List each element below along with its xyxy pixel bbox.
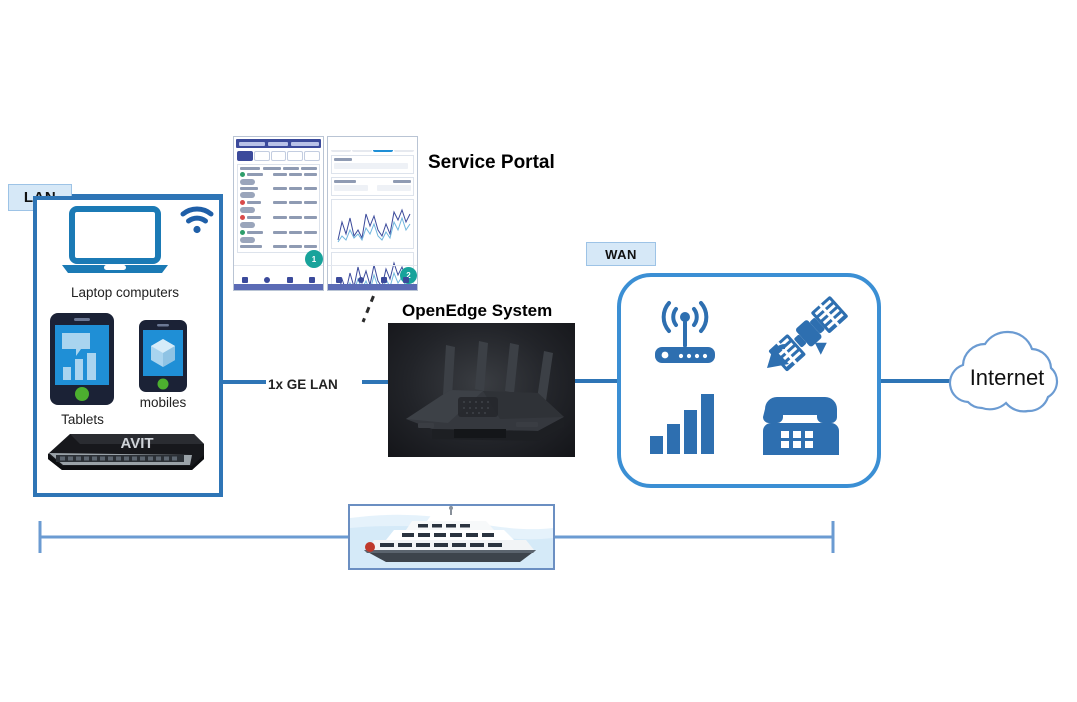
openedge-router-photo [388, 323, 575, 457]
portal-filter-segments[interactable] [237, 151, 320, 161]
laptop-icon [60, 205, 170, 277]
service-portal-title: Service Portal [428, 152, 555, 174]
tablet-label: Tablets [0, 412, 165, 427]
portal-footer-bar [234, 284, 323, 290]
wireless-router-icon [645, 295, 725, 375]
av-appliance-icon: AVIT [42, 428, 210, 483]
portal-list-badge[interactable]: 1 [305, 250, 323, 268]
portal-header-bar [236, 139, 321, 148]
wifi-icon [180, 205, 214, 235]
wan-zone-badge: WAN [586, 242, 656, 266]
openedge-system-title: OpenEdge System [402, 301, 552, 321]
portal-bottom-nav[interactable] [234, 265, 323, 283]
tablet-icon [50, 313, 114, 405]
telephone-icon [757, 393, 845, 455]
mobile-phone-icon [139, 320, 187, 392]
service-portal-screens[interactable]: 2 [233, 136, 418, 291]
mobile-label: mobiles [115, 395, 211, 410]
avit-wordmark: AVIT [120, 435, 153, 452]
laptop-label: Laptop computers [35, 285, 215, 300]
portal-footer-bar-2 [328, 284, 417, 290]
portal-filter-selects[interactable] [331, 177, 414, 196]
internet-label: Internet [938, 365, 1076, 391]
portal-screen-usage[interactable]: 2 [327, 136, 418, 291]
portal-usage-chart [331, 199, 414, 249]
satellite-icon [765, 292, 851, 376]
portal-tab-row[interactable] [331, 142, 414, 152]
portal-period-select[interactable] [331, 155, 414, 174]
portal-bottom-nav-2[interactable] [328, 265, 417, 283]
ge-lan-link-label: 1x GE LAN [268, 377, 338, 392]
portal-link-table [237, 164, 320, 253]
yacht-photo [348, 504, 555, 570]
diagram-canvas: LAN Laptop computers Tablets [0, 0, 1077, 702]
signal-bars-icon [648, 392, 720, 454]
portal-screen-link-status[interactable] [233, 136, 324, 291]
